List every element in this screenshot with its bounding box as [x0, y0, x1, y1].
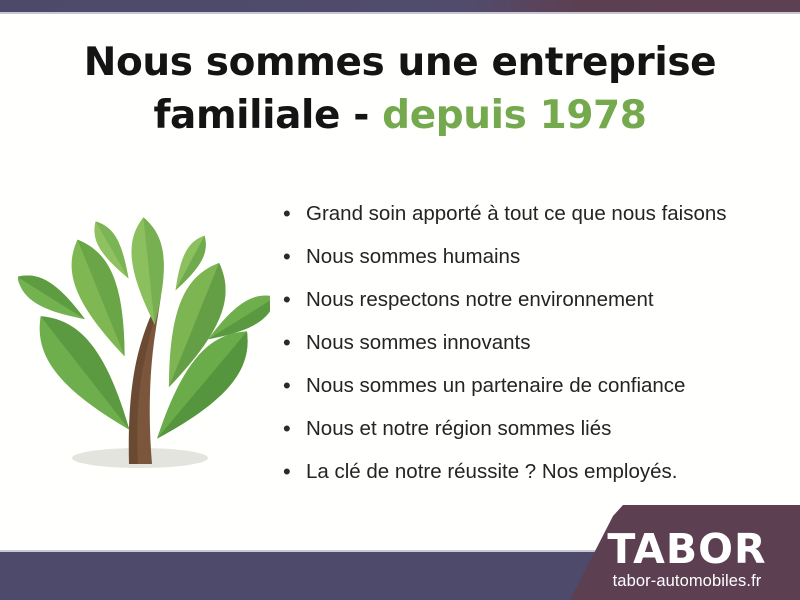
leaf-top-center: [128, 216, 171, 327]
logo-website-url: tabor-automobiles.fr: [582, 572, 792, 590]
headline-line-1: Nous sommes une entreprise: [0, 36, 800, 89]
top-accent-bar: [0, 0, 800, 12]
bullet-icon: •: [283, 364, 306, 407]
bullet-icon: •: [283, 321, 306, 364]
leaf-left-lower: [23, 302, 147, 443]
list-item: • Nous et notre région sommes liés: [283, 407, 783, 450]
value-proposition-list: • Grand soin apporté à tout ce que nous …: [283, 192, 783, 493]
headline-line-2-plain: familiale -: [153, 93, 382, 138]
list-item-label: Nous sommes innovants: [306, 321, 530, 364]
list-item-label: Nous sommes un partenaire de confiance: [306, 364, 685, 407]
list-item: • Nous respectons notre environnement: [283, 278, 783, 321]
page-title: Nous sommes une entreprise familiale - d…: [0, 36, 800, 143]
bullet-icon: •: [283, 278, 306, 321]
list-item-label: La clé de notre réussite ? Nos employés.: [306, 450, 677, 493]
brand-logo: TABOR tabor-automobiles.fr: [582, 530, 792, 590]
logo-wordmark: TABOR: [582, 530, 792, 569]
headline-accent-since-year: depuis 1978: [382, 93, 646, 138]
bullet-icon: •: [283, 235, 306, 278]
tree-illustration: [18, 188, 270, 490]
list-item: • La clé de notre réussite ? Nos employé…: [283, 450, 783, 493]
top-accent-bar-hairline: [0, 12, 800, 14]
list-item-label: Nous sommes humains: [306, 235, 520, 278]
bullet-icon: •: [283, 192, 306, 235]
list-item: • Nous sommes un partenaire de confiance: [283, 364, 783, 407]
bullet-icon: •: [283, 407, 306, 450]
list-item-label: Nous respectons notre environnement: [306, 278, 654, 321]
bullet-icon: •: [283, 450, 306, 493]
list-item: • Nous sommes innovants: [283, 321, 783, 364]
list-item-label: Nous et notre région sommes liés: [306, 407, 611, 450]
list-item: • Grand soin apporté à tout ce que nous …: [283, 192, 783, 235]
list-item: • Nous sommes humains: [283, 235, 783, 278]
slide-canvas: Nous sommes une entreprise familiale - d…: [0, 0, 800, 600]
list-item-label: Grand soin apporté à tout ce que nous fa…: [306, 192, 727, 235]
headline-line-2: familiale - depuis 1978: [0, 89, 800, 142]
